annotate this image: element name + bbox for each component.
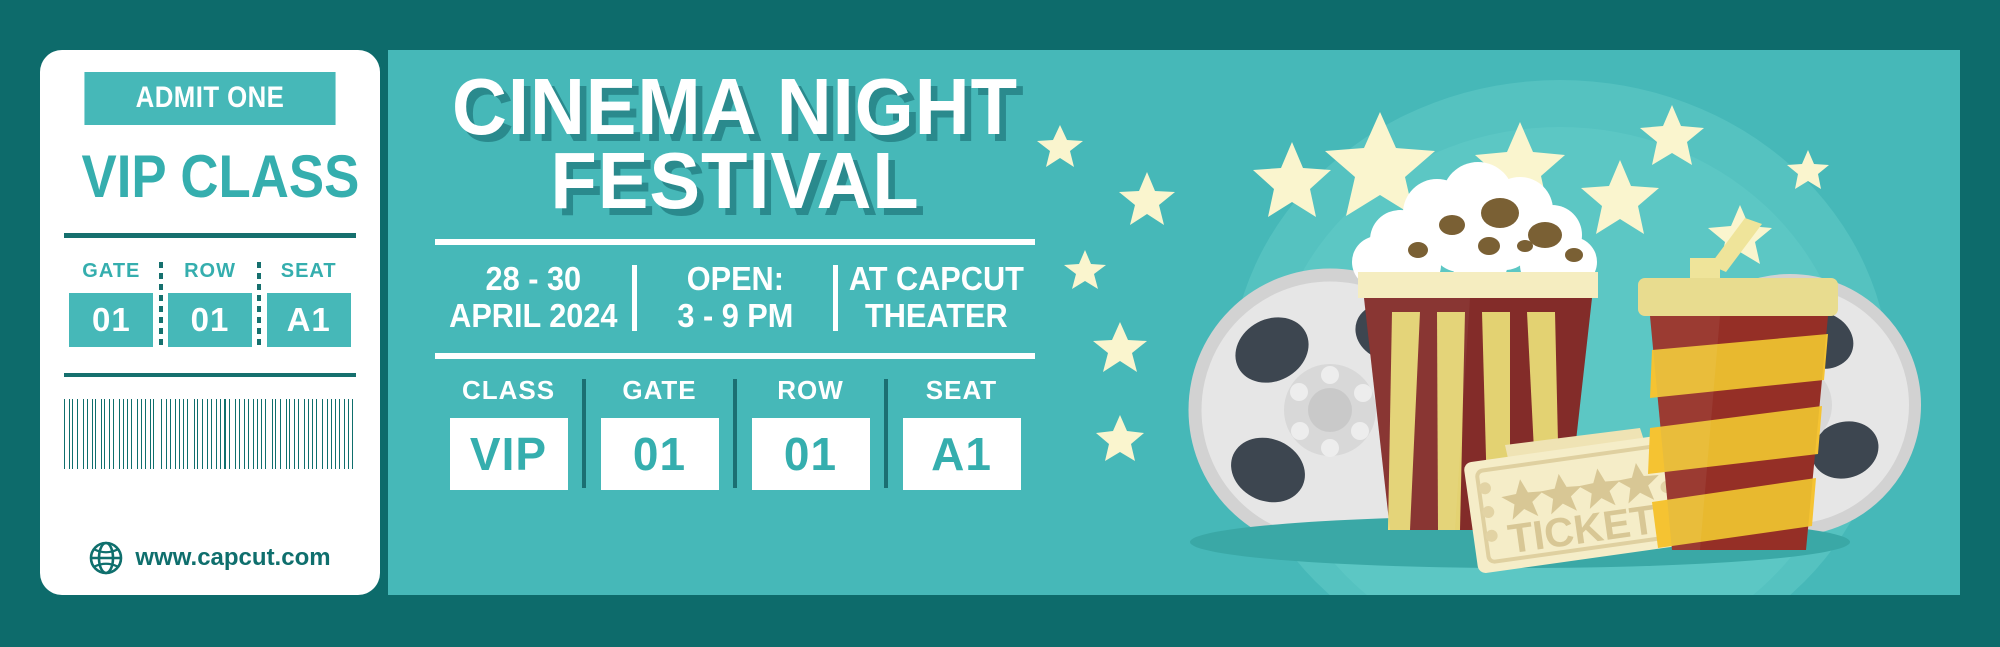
stub-field-row-value: 01 bbox=[168, 293, 252, 347]
event-title-line2: FESTIVAL bbox=[450, 144, 1020, 218]
event-info-row: 28 - 30 APRIL 2024 OPEN: 3 - 9 PM AT CAP… bbox=[435, 261, 1035, 335]
detail-seat-label: SEAT bbox=[926, 375, 997, 406]
vip-class-title: VIP CLASS bbox=[82, 147, 339, 207]
event-hours: OPEN: 3 - 9 PM bbox=[644, 261, 827, 335]
globe-icon bbox=[89, 541, 123, 575]
seat-detail-row: CLASS VIP GATE 01 ROW 01 SEAT A1 bbox=[435, 375, 1035, 490]
detail-row-value: 01 bbox=[752, 418, 870, 490]
cinema-illustration: TICKET bbox=[1000, 50, 1960, 595]
detail-gate: GATE 01 bbox=[586, 375, 733, 490]
event-venue: AT CAPCUT THEATER bbox=[845, 261, 1028, 335]
perforation-line bbox=[383, 62, 388, 583]
event-hours-line1: OPEN: bbox=[644, 261, 827, 298]
detail-row-label: ROW bbox=[777, 375, 844, 406]
event-dates-line1: 28 - 30 bbox=[442, 261, 625, 298]
stub-divider-top bbox=[64, 233, 356, 238]
cinema-ticket: ADMIT ONE VIP CLASS GATE 01 ROW 01 SEAT … bbox=[40, 50, 1960, 595]
detail-row: ROW 01 bbox=[737, 375, 884, 490]
stub-fields: GATE 01 ROW 01 SEAT A1 bbox=[64, 260, 356, 347]
stub-field-gate: GATE 01 bbox=[64, 260, 159, 347]
stub-field-row-label: ROW bbox=[184, 260, 236, 283]
ticket-stub: ADMIT ONE VIP CLASS GATE 01 ROW 01 SEAT … bbox=[40, 50, 380, 595]
info-separator bbox=[833, 265, 838, 331]
stub-field-seat: SEAT A1 bbox=[261, 260, 356, 347]
stub-field-gate-label: GATE bbox=[82, 260, 140, 283]
detail-class: CLASS VIP bbox=[435, 375, 582, 490]
stub-divider-bottom bbox=[64, 373, 356, 377]
detail-seat: SEAT A1 bbox=[888, 375, 1035, 490]
main-text-column: CINEMA NIGHT FESTIVAL 28 - 30 APRIL 2024… bbox=[435, 70, 1035, 490]
website-line: www.capcut.com bbox=[64, 541, 356, 575]
website-url[interactable]: www.capcut.com bbox=[135, 544, 330, 572]
event-venue-line2: THEATER bbox=[845, 298, 1028, 335]
admit-one-banner: ADMIT ONE bbox=[84, 72, 335, 125]
main-divider-bottom bbox=[435, 353, 1035, 359]
info-separator bbox=[632, 265, 637, 331]
event-venue-line1: AT CAPCUT bbox=[845, 261, 1028, 298]
stub-field-seat-value: A1 bbox=[267, 293, 351, 347]
detail-seat-value: A1 bbox=[903, 418, 1021, 490]
event-title: CINEMA NIGHT FESTIVAL bbox=[450, 70, 1020, 217]
detail-class-value: VIP bbox=[450, 418, 568, 490]
detail-class-label: CLASS bbox=[462, 375, 555, 406]
event-dates: 28 - 30 APRIL 2024 bbox=[442, 261, 625, 335]
event-dates-line2: APRIL 2024 bbox=[442, 298, 625, 335]
detail-gate-label: GATE bbox=[622, 375, 696, 406]
detail-gate-value: 01 bbox=[601, 418, 719, 490]
stub-field-row: ROW 01 bbox=[163, 260, 258, 347]
main-divider-top bbox=[435, 239, 1035, 245]
ticket-main-panel: TICKET bbox=[388, 50, 1960, 595]
stub-field-gate-value: 01 bbox=[69, 293, 153, 347]
stub-field-seat-label: SEAT bbox=[281, 260, 337, 283]
event-hours-line2: 3 - 9 PM bbox=[644, 298, 827, 335]
barcode bbox=[64, 399, 356, 469]
